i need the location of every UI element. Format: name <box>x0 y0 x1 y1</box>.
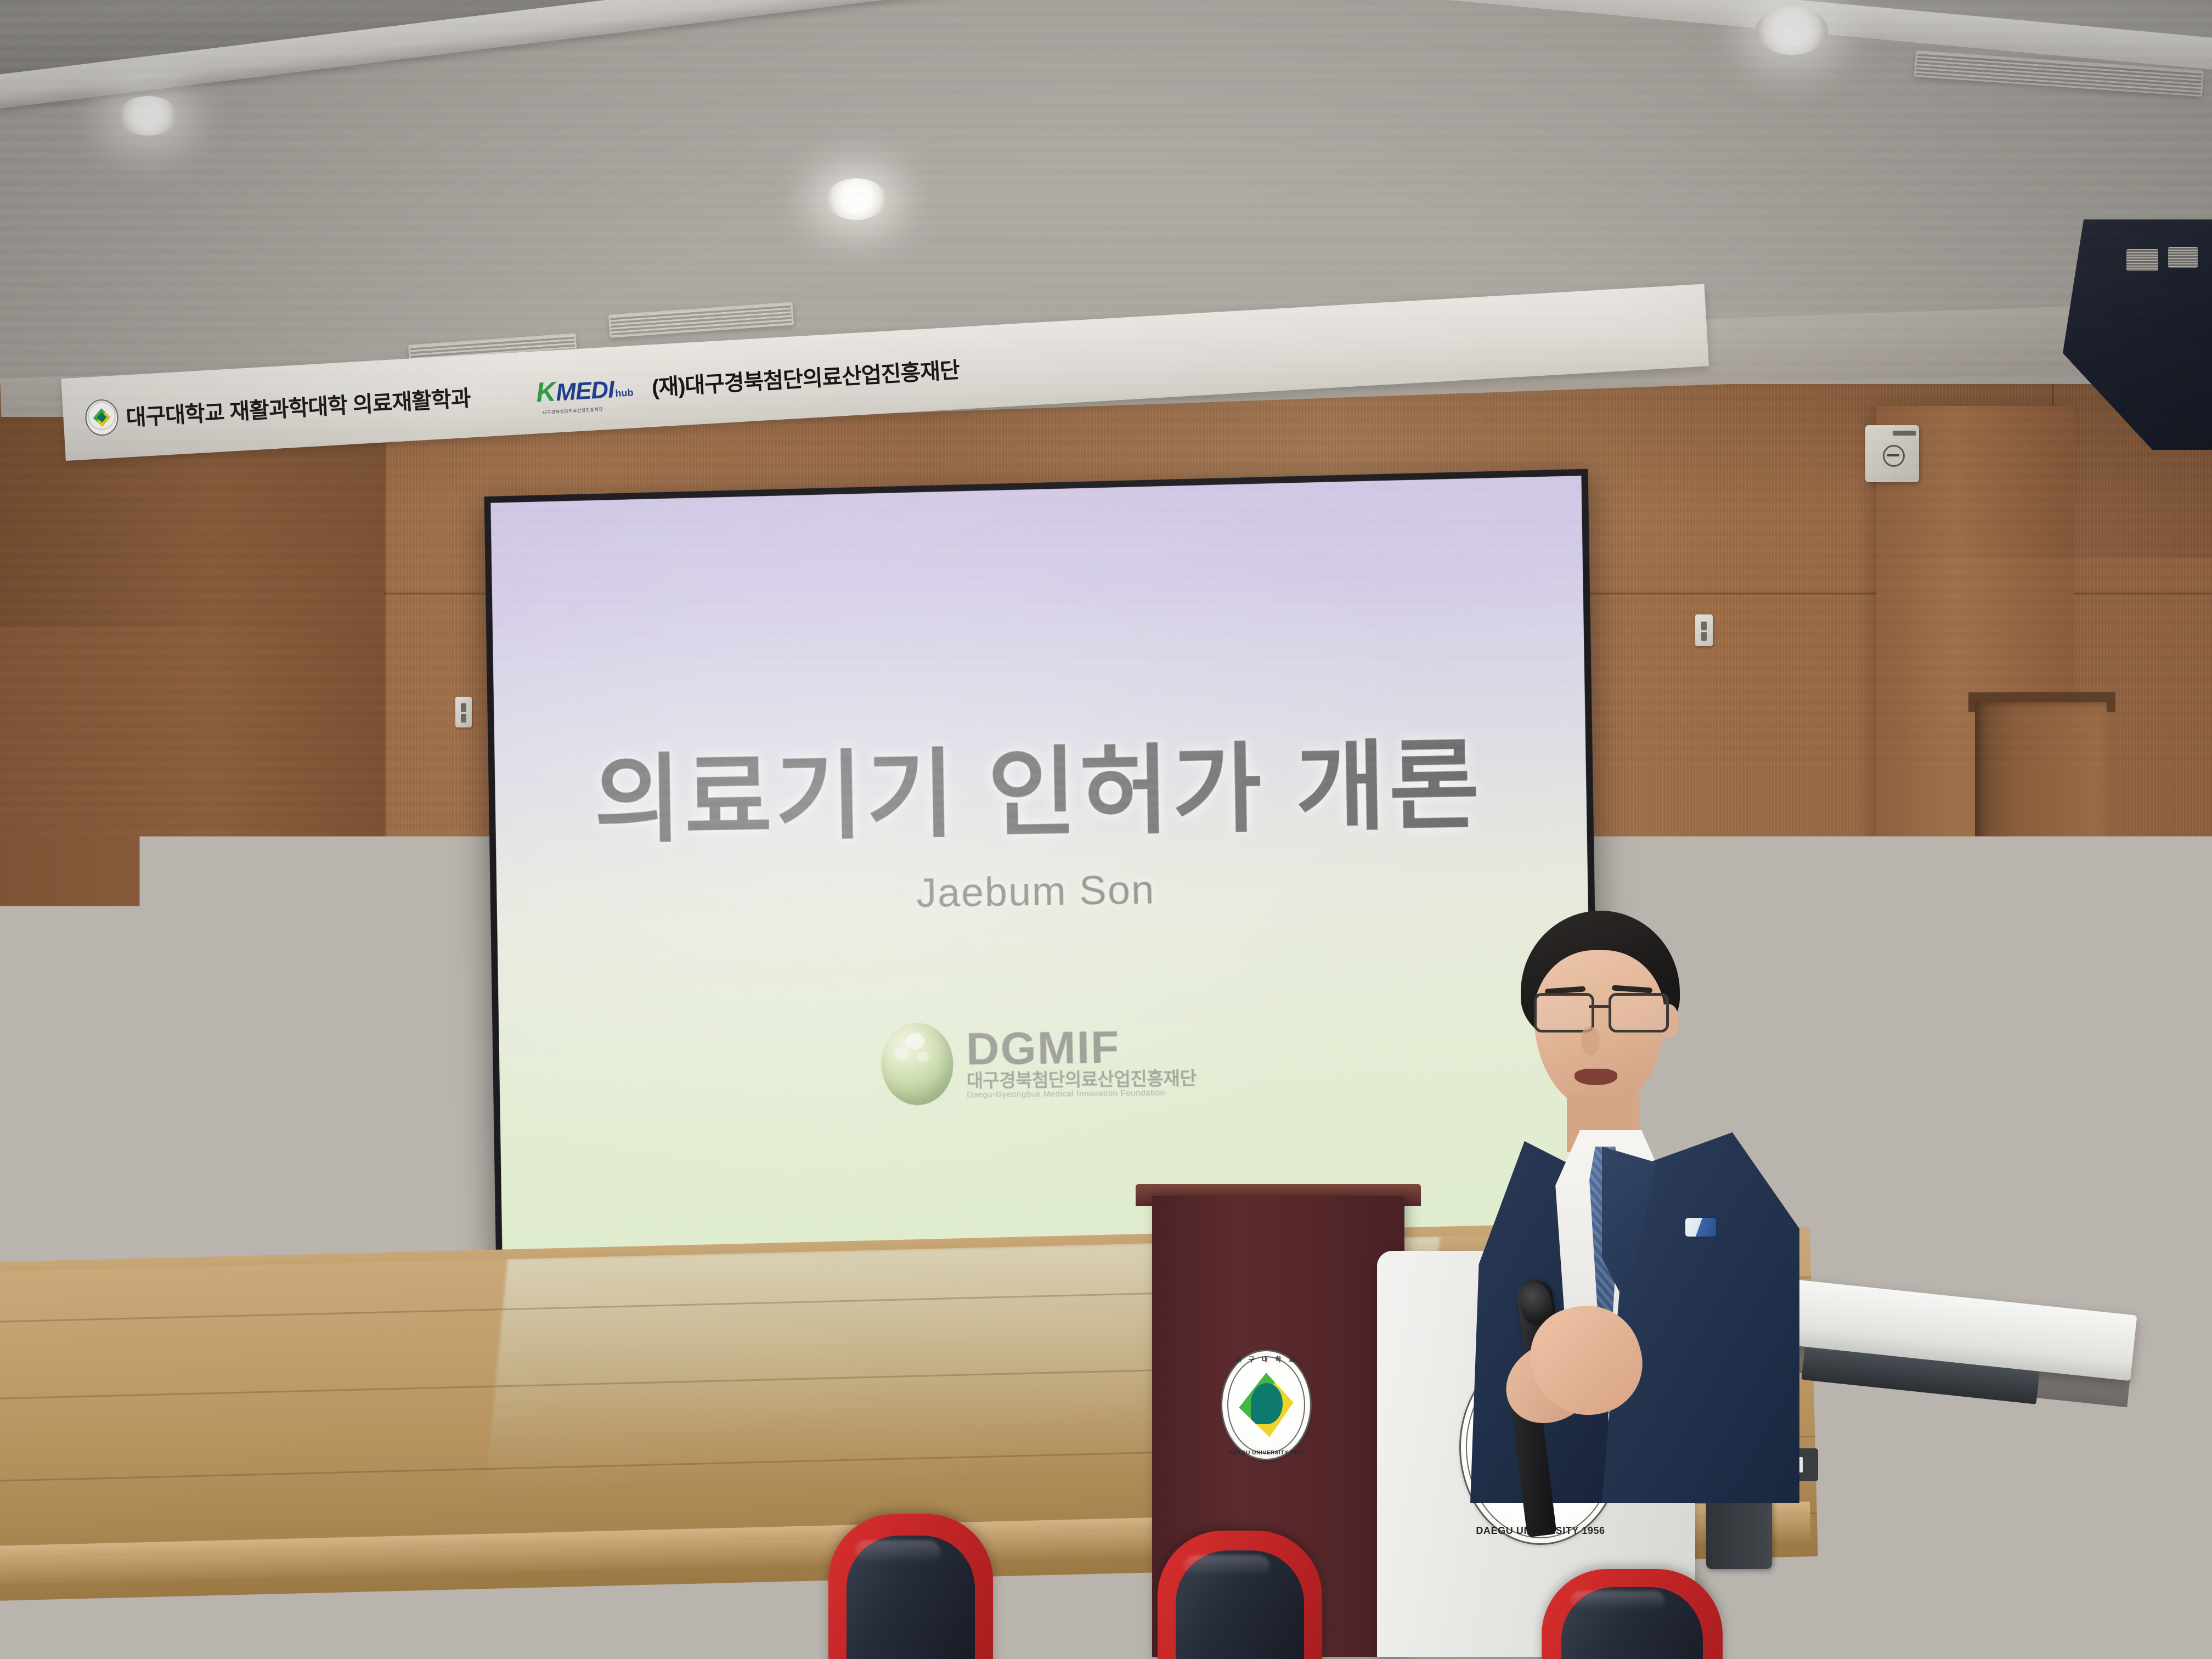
globe-highlight <box>906 1033 924 1049</box>
left-wall-panel <box>0 417 384 1273</box>
dgmif-acronym: DGMIF <box>966 1025 1120 1071</box>
banner-left-org: 대구대학교 재활과학대학 의료재활학과 <box>125 380 471 432</box>
seat-highlight <box>1571 1591 1665 1610</box>
lapel-pin-icon <box>1685 1218 1716 1237</box>
daegu-university-seal-icon <box>84 398 120 436</box>
kmedi-logo-hub: hub <box>615 388 634 398</box>
wall-jack[interactable] <box>455 697 472 727</box>
wall-jack[interactable] <box>1695 614 1713 646</box>
presenter <box>1437 911 1810 1503</box>
globe-highlight <box>917 1051 929 1062</box>
side-door[interactable] <box>1975 702 2107 1295</box>
glasses-lens-right <box>1609 993 1669 1032</box>
downlight-2 <box>826 178 887 220</box>
auditorium-seat[interactable] <box>1542 1569 1723 1659</box>
auditorium-seat[interactable] <box>1158 1531 1322 1659</box>
presenter-mouth <box>1575 1069 1617 1085</box>
glasses-lens-left <box>1534 993 1594 1032</box>
seal-diamond-icon <box>93 408 111 427</box>
podium-seal-korean: 대 구 대 학 교 <box>1222 1355 1310 1364</box>
dgmif-korean-name: 대구경북첨단의료산업진흥재단 <box>967 1068 1197 1091</box>
auditorium-seat[interactable] <box>828 1514 993 1659</box>
audience-hair <box>47 1410 212 1547</box>
globe-icon <box>881 1023 954 1105</box>
wall-outlet[interactable] <box>340 1144 364 1183</box>
globe-highlight <box>894 1047 909 1060</box>
banner-right-org: (재)대구경북첨단의료산업진흥재단 <box>651 352 960 402</box>
speaker-grille <box>2168 247 2198 268</box>
seat-highlight <box>1184 1555 1269 1577</box>
kmedi-logo-medi: MEDI <box>555 379 614 404</box>
wall-control-panel[interactable] <box>1865 425 1919 482</box>
seat-highlight <box>2015 1601 2109 1620</box>
slide-author: Jaebum Son <box>496 859 1588 923</box>
seat-highlight <box>855 1541 940 1564</box>
downlight-1 <box>118 96 178 136</box>
projection-screen-frame: 의료기기 인허가 개론 Jaebum Son DGMIF 대구경북첨단의료산업진… <box>484 469 1601 1290</box>
presenter-nose <box>1581 1027 1600 1056</box>
dgmif-english-name: Daegu-Gyeongbuk Medical Innovation Found… <box>967 1088 1165 1099</box>
panel-slot <box>1893 431 1916 436</box>
ceiling-vent-2 <box>608 302 794 337</box>
rotary-knob-icon[interactable] <box>1883 445 1905 467</box>
wall-outlet[interactable] <box>379 1144 403 1183</box>
audience-member <box>16 1410 274 1659</box>
kmedi-logo-k: K <box>535 379 557 405</box>
dgmif-logo: DGMIF 대구경북첨단의료산업진흥재단 Daegu-Gyeongbuk Med… <box>499 1014 1591 1109</box>
kmedi-hub-logo: K MEDI hub 대구경북첨단의료산업진흥재단 <box>535 375 634 405</box>
kmedi-logo-sub: 대구경북첨단의료산업진흥재단 <box>543 406 603 415</box>
podium-seal-left: 대 구 대 학 교 DAEGU UNIVERSITY 1956 <box>1221 1350 1312 1460</box>
auditorium-seat[interactable] <box>1986 1580 2167 1659</box>
speaker-grille <box>2126 249 2158 271</box>
projection-screen: 의료기기 인허가 개론 Jaebum Son DGMIF 대구경북첨단의료산업진… <box>490 476 1594 1283</box>
downlight-3 <box>1756 7 1828 55</box>
slide-title: 의료기기 인허가 개론 <box>494 703 1587 863</box>
glasses-bridge <box>1589 1005 1611 1008</box>
lecture-hall-photo: 대구대학교 재활과학대학 의료재활학과 K MEDI hub 대구경북첨단의료산… <box>0 0 2212 1659</box>
glasses-icon <box>1532 993 1671 1028</box>
podium-seal-english: DAEGU UNIVERSITY 1956 <box>1222 1450 1310 1456</box>
